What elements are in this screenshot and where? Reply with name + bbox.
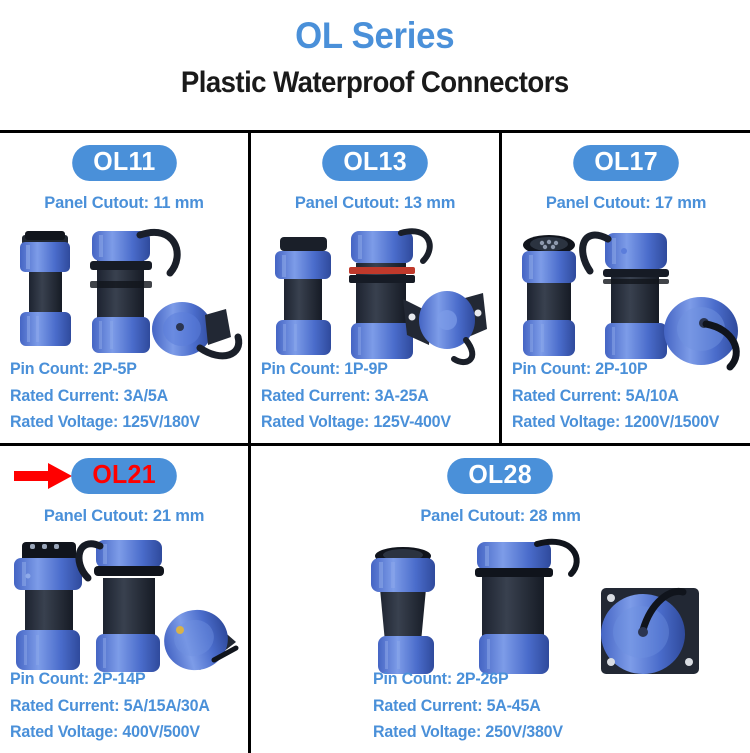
badge-wrap-ol21: OL21: [0, 455, 248, 497]
product-badge-ol17[interactable]: OL17: [573, 145, 679, 180]
spec-rated-voltage: Rated Voltage: 125V-400V: [261, 409, 451, 436]
spec-pin-count: Pin Count: 2P-10P: [512, 356, 719, 383]
spec-rated-current: Rated Current: 5A/15A/30A: [10, 693, 210, 720]
specs-ol11: Pin Count: 2P-5P Rated Current: 3A/5A Ra…: [10, 356, 206, 436]
page-subtitle: Plastic Waterproof Connectors: [181, 68, 569, 98]
spec-pin-count: Pin Count: 2P-26P: [373, 666, 563, 693]
red-arrow-icon: [14, 463, 72, 489]
connector-socket-middle: [475, 542, 577, 674]
connector-socket-middle: [79, 540, 164, 672]
connector-socket-middle: [583, 233, 669, 359]
product-photo-ol28: [251, 530, 750, 680]
connector-plug-left: [275, 237, 331, 355]
page-header: OL Series Plastic Waterproof Connectors: [0, 0, 750, 130]
product-badge-ol11[interactable]: OL11: [72, 145, 176, 180]
badge-wrap-ol13: OL13: [251, 142, 499, 184]
product-comparison-sheet: OL Series Plastic Waterproof Connectors …: [0, 0, 750, 750]
spec-pin-count: Pin Count: 2P-5P: [10, 356, 200, 383]
spec-rated-voltage: Rated Voltage: 400V/500V: [10, 719, 210, 746]
spec-rated-voltage: Rated Voltage: 1200V/1500V: [512, 409, 719, 436]
panel-cutout-ol17: Panel Cutout: 17 mm: [506, 193, 747, 213]
spec-rated-voltage: Rated Voltage: 250V/380V: [373, 719, 563, 746]
panel-cutout-ol28: Panel Cutout: 28 mm: [258, 506, 742, 526]
spec-rated-voltage: Rated Voltage: 125V/180V: [10, 409, 200, 436]
page-title: OL Series: [295, 17, 454, 54]
product-badge-ol28[interactable]: OL28: [448, 458, 554, 493]
badge-wrap-ol28: OL28: [251, 455, 750, 497]
product-badge-ol13[interactable]: OL13: [322, 145, 428, 180]
panel-cutout-ol21: Panel Cutout: 21 mm: [4, 506, 245, 526]
spec-rated-current: Rated Current: 3A/5A: [10, 383, 200, 410]
connector-cap-right: [152, 302, 239, 356]
product-grid: OL11 Panel Cutout: 11 mm: [0, 130, 750, 750]
product-photo-ol17: [502, 217, 750, 369]
product-badge-ol21[interactable]: OL21: [71, 458, 177, 493]
connector-plug-left: [522, 235, 576, 356]
connector-plug-left: [14, 542, 82, 670]
product-cell-ol13[interactable]: OL13 Panel Cutout: 13 mm: [251, 133, 502, 443]
product-cell-ol17[interactable]: OL17 Panel Cutout: 17 mm: [502, 133, 750, 443]
connector-plug-left: [371, 547, 435, 674]
spec-rated-current: Rated Current: 5A-45A: [373, 693, 563, 720]
product-photo-ol13: [251, 217, 499, 369]
product-row-bottom: OL21 Panel Cutout: 21 mm: [0, 446, 750, 753]
product-photo-ol21: [0, 530, 248, 680]
product-cell-ol11[interactable]: OL11 Panel Cutout: 11 mm: [0, 133, 251, 443]
specs-ol28: Pin Count: 2P-26P Rated Current: 5A-45A …: [373, 666, 569, 746]
panel-cutout-ol13: Panel Cutout: 13 mm: [255, 193, 496, 213]
badge-wrap-ol17: OL17: [502, 142, 750, 184]
panel-cutout-ol11: Panel Cutout: 11 mm: [4, 193, 245, 213]
product-photo-ol11: [0, 217, 248, 369]
red-oring: [349, 267, 415, 274]
spec-rated-current: Rated Current: 5A/10A: [512, 383, 719, 410]
specs-ol21: Pin Count: 2P-14P Rated Current: 5A/15A/…: [10, 666, 216, 746]
specs-ol13: Pin Count: 1P-9P Rated Current: 3A-25A R…: [261, 356, 457, 436]
product-cell-ol21[interactable]: OL21 Panel Cutout: 21 mm: [0, 446, 251, 753]
connector-cap-right: [403, 291, 487, 362]
badge-wrap-ol11: OL11: [0, 142, 248, 184]
spec-pin-count: Pin Count: 1P-9P: [261, 356, 451, 383]
connector-plug-left: [20, 231, 71, 346]
spec-rated-current: Rated Current: 3A-25A: [261, 383, 451, 410]
product-cell-ol28[interactable]: OL28 Panel Cutout: 28 mm: [251, 446, 750, 753]
specs-ol17: Pin Count: 2P-10P Rated Current: 5A/10A …: [512, 356, 726, 436]
connector-cap-right: [601, 588, 699, 674]
product-row-top: OL11 Panel Cutout: 11 mm: [0, 133, 750, 446]
spec-pin-count: Pin Count: 2P-14P: [10, 666, 210, 693]
